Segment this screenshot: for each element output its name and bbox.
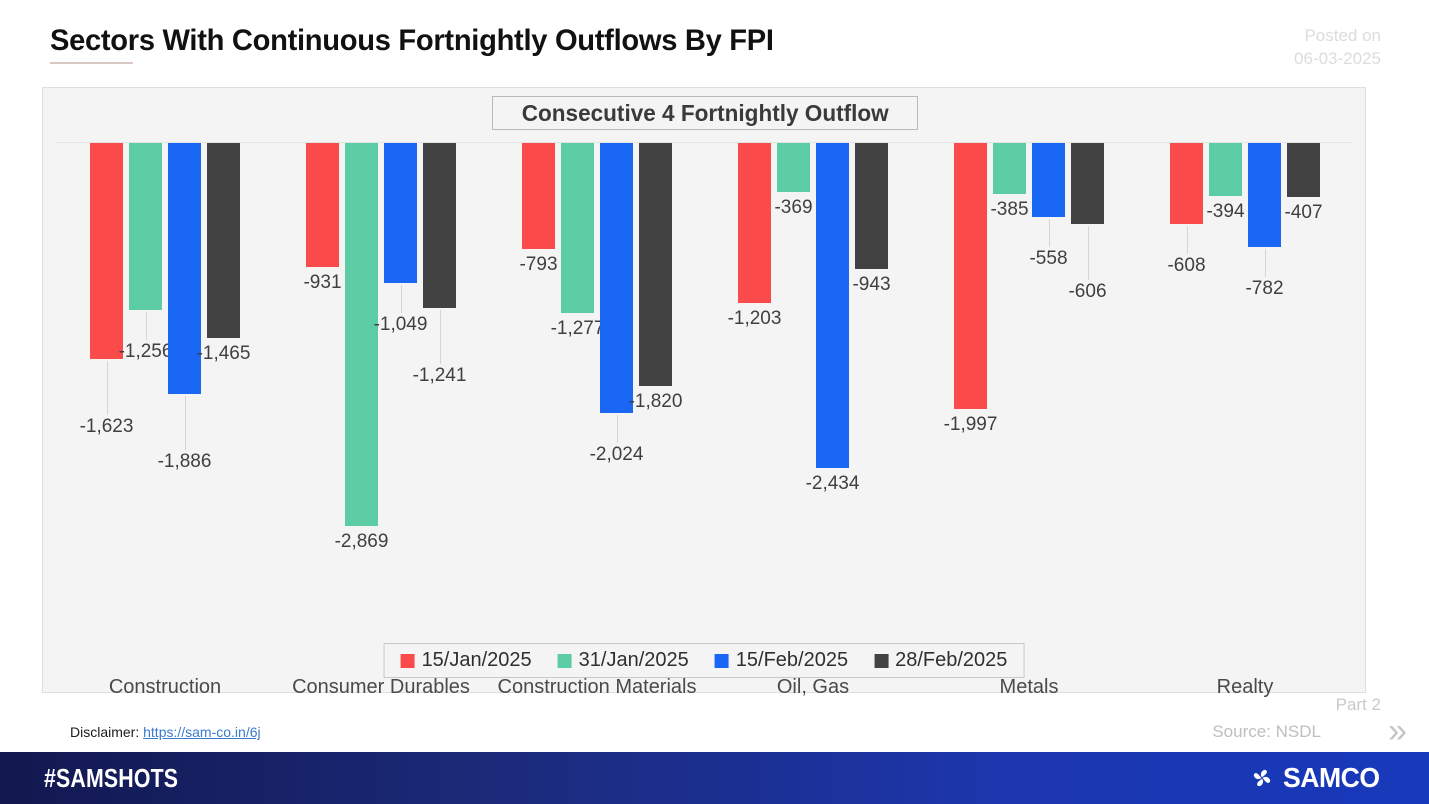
bar-set: -1,997-385-558-606: [921, 143, 1137, 409]
legend-item[interactable]: 15/Jan/2025: [401, 649, 532, 672]
bottom-brand-bar: #SAMSHOTS SAMCO: [0, 752, 1429, 804]
slide-canvas: Sectors With Continuous Fortnightly Outf…: [0, 0, 1429, 804]
bar-value-label: -369: [774, 198, 812, 217]
bar-value-label: -1,623: [80, 417, 134, 436]
legend-label: 28/Feb/2025: [895, 649, 1007, 672]
legend-label: 15/Jan/2025: [422, 649, 532, 672]
bar-value-label: -1,277: [551, 319, 605, 338]
bar-value-label: -931: [303, 273, 341, 292]
samshots-wordmark: #SAMSHOTS: [44, 763, 178, 794]
part-label: Part 2: [1336, 695, 1381, 715]
bar-group: -1,203-369-2,434-943: [705, 135, 921, 630]
bar[interactable]: [639, 143, 672, 386]
bar-value-label: -782: [1245, 279, 1283, 298]
bar-set: -1,623-1,256-1,886-1,465: [57, 143, 273, 394]
bar-group: -1,623-1,256-1,886-1,465: [57, 135, 273, 630]
label-leader-line: [440, 310, 441, 364]
bar[interactable]: [1032, 143, 1065, 217]
bar-item[interactable]: -2,024: [600, 143, 633, 413]
label-leader-line: [401, 285, 402, 313]
bar-item[interactable]: -369: [777, 143, 810, 192]
bar-item[interactable]: -394: [1209, 143, 1242, 196]
header: Sectors With Continuous Fortnightly Outf…: [0, 0, 1429, 86]
bar-item[interactable]: -1,465: [207, 143, 240, 338]
bar[interactable]: [522, 143, 555, 249]
bar[interactable]: [600, 143, 633, 413]
legend-label: 15/Feb/2025: [736, 649, 848, 672]
bar[interactable]: [1071, 143, 1104, 224]
chart-title-box: Consecutive 4 Fortnightly Outflow: [492, 96, 918, 130]
chart-legend[interactable]: 15/Jan/202531/Jan/202515/Feb/202528/Feb/…: [384, 643, 1025, 678]
bar[interactable]: [855, 143, 888, 269]
bar[interactable]: [1170, 143, 1203, 224]
label-leader-line: [617, 415, 618, 443]
bar-group: -1,997-385-558-606: [921, 135, 1137, 630]
bar-groups: -1,623-1,256-1,886-1,465-931-2,869-1,049…: [57, 135, 1353, 630]
bar-value-label: -1,203: [728, 309, 782, 328]
bar[interactable]: [423, 143, 456, 308]
samco-wordmark: SAMCO: [1283, 762, 1380, 794]
bar[interactable]: [129, 143, 162, 310]
bar[interactable]: [1209, 143, 1242, 196]
category-label: Realty: [1137, 673, 1353, 702]
bar-item[interactable]: -608: [1170, 143, 1203, 224]
bar-value-label: -385: [990, 200, 1028, 219]
legend-swatch-icon: [874, 654, 888, 668]
samco-logo: SAMCO: [1249, 762, 1385, 794]
bar-value-label: -1,241: [413, 366, 467, 385]
bar-group: -793-1,277-2,024-1,820: [489, 135, 705, 630]
legend-item[interactable]: 15/Feb/2025: [715, 649, 848, 672]
legend-item[interactable]: 28/Feb/2025: [874, 649, 1007, 672]
bar-value-label: -1,256: [119, 342, 173, 361]
legend-swatch-icon: [715, 654, 729, 668]
bar-value-label: -793: [519, 255, 557, 274]
bar-value-label: -2,434: [806, 474, 860, 493]
disclaimer-label: Disclaimer:: [70, 724, 139, 740]
disclaimer-link[interactable]: https://sam-co.in/6j: [143, 724, 261, 740]
bar-value-label: -558: [1029, 249, 1067, 268]
label-leader-line: [1265, 249, 1266, 277]
bar-item[interactable]: -1,203: [738, 143, 771, 303]
legend-label: 31/Jan/2025: [579, 649, 689, 672]
bar-value-label: -1,465: [197, 344, 251, 363]
bar-item[interactable]: -2,434: [816, 143, 849, 468]
label-leader-line: [146, 312, 147, 340]
bar-value-label: -2,869: [335, 532, 389, 551]
bar[interactable]: [1287, 143, 1320, 197]
bar-value-label: -394: [1206, 202, 1244, 221]
bar[interactable]: [207, 143, 240, 338]
posted-on-label: Posted on: [1294, 24, 1381, 47]
bar[interactable]: [777, 143, 810, 192]
bar-item[interactable]: -1,049: [384, 143, 417, 283]
plot-area: -1,623-1,256-1,886-1,465-931-2,869-1,049…: [57, 135, 1353, 630]
disclaimer: Disclaimer: https://sam-co.in/6j: [70, 724, 261, 740]
bar-group: -608-394-782-407: [1137, 135, 1353, 630]
bar-item[interactable]: -793: [522, 143, 555, 249]
bar-value-label: -1,820: [629, 392, 683, 411]
bar[interactable]: [561, 143, 594, 313]
bar[interactable]: [1248, 143, 1281, 247]
double-chevron-right-icon[interactable]: »: [1388, 714, 1407, 748]
bar-item[interactable]: -1,241: [423, 143, 456, 308]
chart-title: Consecutive 4 Fortnightly Outflow: [522, 100, 889, 127]
source-label: Source: NSDL: [1212, 722, 1321, 742]
label-leader-line: [1187, 226, 1188, 254]
bar-value-label: -606: [1068, 282, 1106, 301]
posted-on: Posted on 06-03-2025: [1294, 24, 1381, 70]
posted-on-date: 06-03-2025: [1294, 47, 1381, 70]
page-title: Sectors With Continuous Fortnightly Outf…: [50, 24, 774, 58]
bar[interactable]: [954, 143, 987, 409]
bar-value-label: -943: [852, 275, 890, 294]
bar-item[interactable]: -1,997: [954, 143, 987, 409]
bar-value-label: -2,024: [590, 445, 644, 464]
legend-swatch-icon: [558, 654, 572, 668]
legend-swatch-icon: [401, 654, 415, 668]
bar[interactable]: [306, 143, 339, 267]
bar-value-label: -1,997: [944, 415, 998, 434]
label-leader-line: [185, 396, 186, 450]
bar-item[interactable]: -1,256: [129, 143, 162, 310]
label-leader-line: [1088, 226, 1089, 280]
bar-item[interactable]: -1,623: [90, 143, 123, 359]
bar-value-label: -1,049: [374, 315, 428, 334]
label-leader-line: [1049, 219, 1050, 247]
bar-item[interactable]: -606: [1071, 143, 1104, 224]
bar[interactable]: [993, 143, 1026, 194]
title-underline-accent: [50, 62, 133, 64]
chart-container: Consecutive 4 Fortnightly Outflow -1,623…: [42, 87, 1366, 693]
category-label: Construction: [57, 673, 273, 702]
label-leader-line: [107, 361, 108, 415]
bar-item[interactable]: -931: [306, 143, 339, 267]
bar-set: -931-2,869-1,049-1,241: [273, 143, 489, 526]
bar-value-label: -608: [1167, 256, 1205, 275]
bar-item[interactable]: -943: [855, 143, 888, 269]
bar-item[interactable]: -1,277: [561, 143, 594, 313]
bar[interactable]: [384, 143, 417, 283]
bar[interactable]: [738, 143, 771, 303]
bar-set: -1,203-369-2,434-943: [705, 143, 921, 468]
samco-pinwheel-icon: [1249, 765, 1275, 791]
bar-item[interactable]: -782: [1248, 143, 1281, 247]
bar-value-label: -407: [1284, 203, 1322, 222]
legend-item[interactable]: 31/Jan/2025: [558, 649, 689, 672]
bar-set: -793-1,277-2,024-1,820: [489, 143, 705, 413]
bar-set: -608-394-782-407: [1137, 143, 1353, 247]
bar-value-label: -1,886: [158, 452, 212, 471]
bar-group: -931-2,869-1,049-1,241: [273, 135, 489, 630]
bar[interactable]: [816, 143, 849, 468]
bar-item[interactable]: -385: [993, 143, 1026, 194]
bar-item[interactable]: -558: [1032, 143, 1065, 217]
bar[interactable]: [90, 143, 123, 359]
bar-item[interactable]: -407: [1287, 143, 1320, 197]
bar-item[interactable]: -1,820: [639, 143, 672, 386]
